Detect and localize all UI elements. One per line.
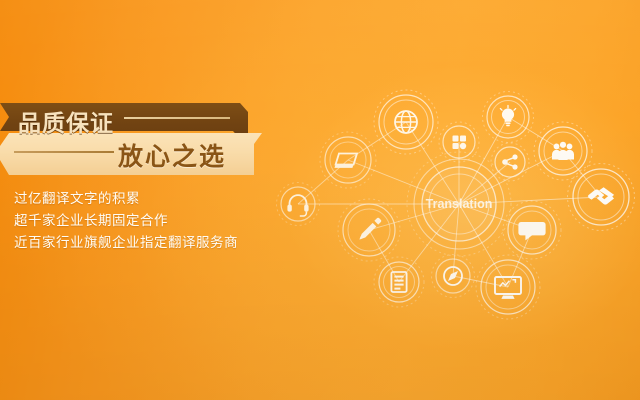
feature-bullet-list: 过亿翻译文字的积累 超千家企业长期固定合作 近百家行业旗舰企业指定翻译服务商 bbox=[14, 188, 264, 254]
list-item: 近百家行业旗舰企业指定翻译服务商 bbox=[14, 232, 264, 254]
banner-title-primary: 品质保证 bbox=[18, 104, 114, 138]
list-item: 超千家企业长期固定合作 bbox=[14, 210, 264, 232]
banner-top-rule bbox=[124, 117, 230, 119]
banner-title-secondary: 放心之选 bbox=[118, 137, 226, 173]
list-item: 过亿翻译文字的积累 bbox=[14, 188, 264, 210]
headline-banner: 品质保证 放心之选 bbox=[0, 103, 262, 175]
promo-banner-image: Translation 品质保证 放心之选 过亿翻译文字的积累 超千家企业长期固… bbox=[0, 0, 640, 400]
banner-bottom-rule bbox=[14, 151, 114, 153]
